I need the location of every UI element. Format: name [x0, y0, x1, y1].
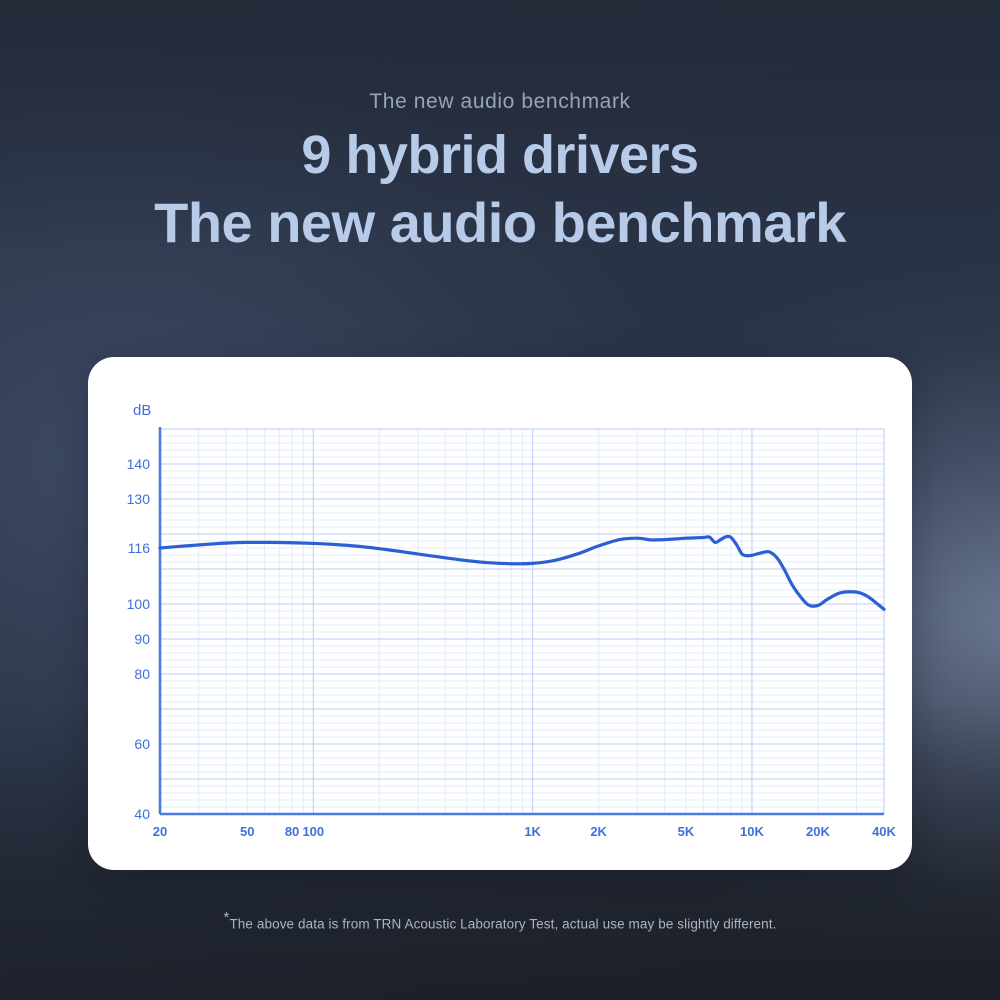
x-tick-label: 50: [240, 824, 254, 839]
y-tick-label: 80: [134, 666, 150, 682]
x-tick-label: 20K: [806, 824, 830, 839]
y-tick-label: 100: [127, 596, 151, 612]
y-tick-label: 116: [128, 540, 151, 556]
page-title-line1: 9 hybrid drivers: [0, 127, 1000, 184]
y-tick-label: 130: [127, 491, 151, 507]
x-tick-label: 5K: [678, 824, 695, 839]
y-tick-label: 60: [134, 736, 150, 752]
eyebrow-text: The new audio benchmark: [0, 90, 1000, 114]
x-tick-label: 2K: [590, 824, 607, 839]
frequency-response-line: [160, 536, 884, 609]
chart-caption: *The above data is from TRN Acoustic Lab…: [0, 910, 1000, 932]
x-tick-label: 20: [153, 824, 167, 839]
frequency-response-chart: 14013011610090806040 2050801001K2K5K10K2…: [88, 357, 912, 870]
page-title-line2: The new audio benchmark: [0, 194, 1000, 253]
x-tick-label: 100: [302, 824, 324, 839]
chart-y-axis-label: dB: [133, 402, 151, 419]
chart-y-tick-labels: 14013011610090806040: [127, 456, 151, 822]
x-tick-label: 10K: [740, 824, 764, 839]
x-tick-label: 40K: [872, 824, 896, 839]
caption-text: The above data is from TRN Acoustic Labo…: [229, 917, 776, 932]
x-tick-label: 1K: [524, 824, 541, 839]
frequency-response-chart-card: 14013011610090806040 2050801001K2K5K10K2…: [88, 357, 912, 870]
caption-asterisk: *: [224, 909, 230, 926]
y-tick-label: 140: [127, 456, 151, 472]
chart-x-tick-labels: 2050801001K2K5K10K20K40K: [153, 824, 897, 839]
chart-grid-minor: [160, 429, 884, 814]
x-tick-label: 80: [285, 824, 299, 839]
chart-grid-major: [160, 429, 884, 814]
y-tick-label: 40: [134, 806, 150, 822]
y-tick-label: 90: [134, 631, 150, 647]
